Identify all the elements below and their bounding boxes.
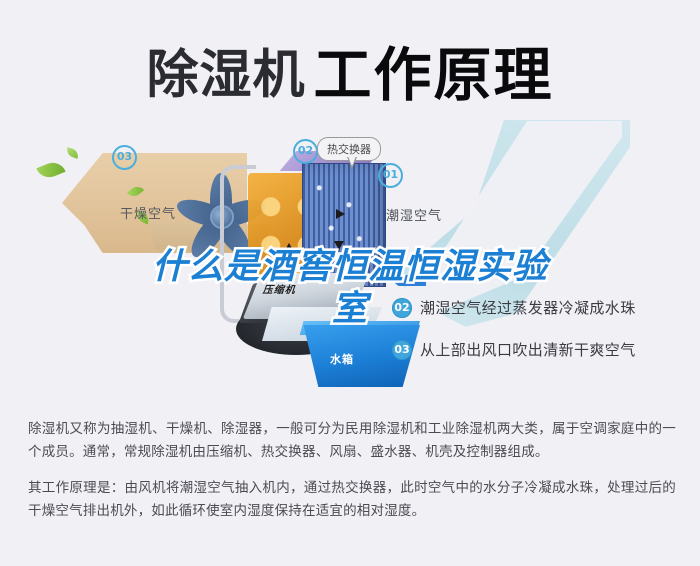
flow-arrow-icon (336, 209, 345, 219)
compressor-label: 压缩机 (262, 281, 300, 296)
callout-tail-icon (347, 157, 357, 169)
legend-item: 02 潮湿空气经过蒸发器冷凝成水珠 (392, 297, 636, 318)
intake-arrow-icon (392, 275, 426, 286)
legend-text: 潮湿空气经过蒸发器冷凝成水珠 (420, 297, 636, 318)
legend-badge-02: 02 (392, 298, 412, 318)
paragraph-2: 其工作原理是：由风机将潮湿空气抽入机内，通过热交换器，此时空气中的水分子冷凝成水… (28, 477, 676, 523)
flow-arrow-icon (334, 241, 344, 250)
page-title: 除湿机工作原理 (0, 28, 700, 112)
diagram-badge-02: 02 (293, 139, 318, 164)
leaf-icon (65, 147, 80, 159)
legend-text: 从上部出风口吹出清新干爽空气 (420, 339, 636, 360)
condensation-droplets (306, 173, 380, 279)
legend-badge-03: 03 (392, 340, 412, 360)
legend-list: 02 潮湿空气经过蒸发器冷凝成水珠 03 从上部出风口吹出清新干爽空气 (392, 297, 636, 381)
diagram-badge-01: 01 (378, 163, 403, 188)
diagram-badge-03: 03 (112, 145, 137, 170)
flow-arrow-icon (284, 243, 294, 252)
legend-item: 03 从上部出风口吹出清新干爽空气 (392, 339, 636, 360)
poster-canvas: 除湿机工作原理 (0, 0, 700, 566)
article-body: 除湿机又称为抽湿机、干燥机、除湿器，一般可分为民用除湿机和工业除湿机两大类，属于… (28, 418, 676, 536)
title-part-1: 除湿机 (146, 46, 305, 106)
humid-air-label: 潮湿空气 (386, 205, 442, 224)
water-tank-label: 水箱 (330, 351, 354, 367)
leaf-icon (36, 159, 65, 182)
dry-air-label: 干燥空气 (120, 203, 176, 222)
title-part-2: 工作原理 (314, 41, 554, 109)
paragraph-1: 除湿机又称为抽湿机、干燥机、除湿器，一般可分为民用除湿机和工业除湿机两大类，属于… (28, 418, 676, 464)
